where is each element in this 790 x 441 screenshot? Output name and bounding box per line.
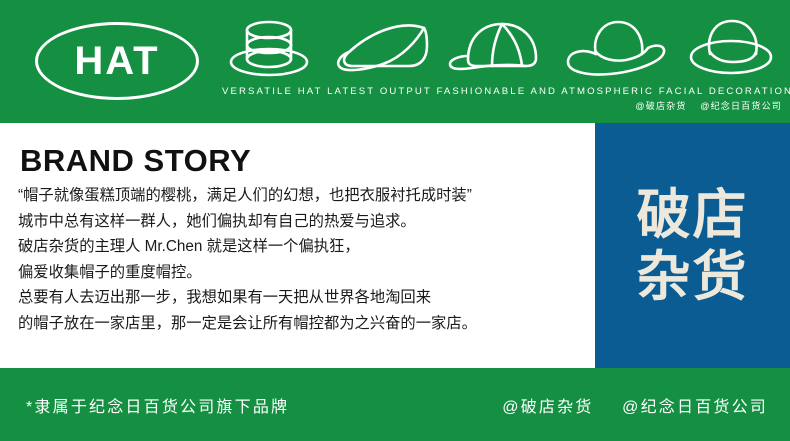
footer-band: *隶属于纪念日百货公司旗下品牌 @破店杂货 @纪念日百货公司 (0, 368, 790, 441)
header-tagline: VERSATILE HAT LATEST OUTPUT FASHIONABLE … (222, 86, 788, 97)
flat-cap-icon (331, 12, 439, 84)
header-handles: @破店杂货 @纪念日百货公司 (625, 99, 782, 112)
footer-affiliation-note: *隶属于纪念日百货公司旗下品牌 (26, 393, 289, 417)
header-handle-2: @纪念日百货公司 (700, 101, 782, 111)
brand-logo-mark: 破店 杂货 (595, 123, 790, 368)
footer-handles: @破店杂货 @纪念日百货公司 (480, 393, 768, 417)
brand-logo-panel: 破店 杂货 (595, 123, 790, 368)
wide-brim-hat-icon (562, 12, 670, 84)
story-line: 城市中总有这样一群人，她们偏执却有自己的热爱与追求。 (18, 209, 588, 235)
hat-logo-text: HAT (74, 41, 159, 81)
bowler-hat-icon (677, 12, 785, 84)
baseball-cap-icon (446, 12, 554, 84)
footer-handle-2: @纪念日百货公司 (622, 399, 768, 416)
story-line: 破店杂货的主理人 Mr.Chen 就是这样一个偏执狂， (18, 234, 588, 260)
page-title: BRAND STORY (20, 145, 251, 176)
story-line: 总要有人去迈出那一步，我想如果有一天把从世界各地淘回来 (18, 285, 588, 311)
header-handle-1: @破店杂货 (635, 101, 686, 111)
hat-illustration-row (215, 12, 785, 84)
brand-logo-line-1: 破店 (637, 184, 749, 246)
story-line: “帽子就像蛋糕顶端的樱桃，满足人们的幻想，也把衣服衬托成时装” (18, 183, 588, 209)
top-hat-icon (215, 12, 323, 84)
footer-handle-1: @破店杂货 (502, 399, 593, 416)
story-line: 的帽子放在一家店里，那一定是会让所有帽控都为之兴奋的一家店。 (18, 311, 588, 337)
brand-story-text: “帽子就像蛋糕顶端的樱桃，满足人们的幻想，也把衣服衬托成时装” 城市中总有这样一… (18, 183, 588, 337)
hat-logo-badge: HAT (35, 22, 199, 100)
header-band: HAT (0, 0, 790, 123)
brand-logo-line-2: 杂货 (637, 246, 749, 308)
brand-story-poster: HAT (0, 0, 790, 441)
story-line: 偏爱收集帽子的重度帽控。 (18, 260, 588, 286)
